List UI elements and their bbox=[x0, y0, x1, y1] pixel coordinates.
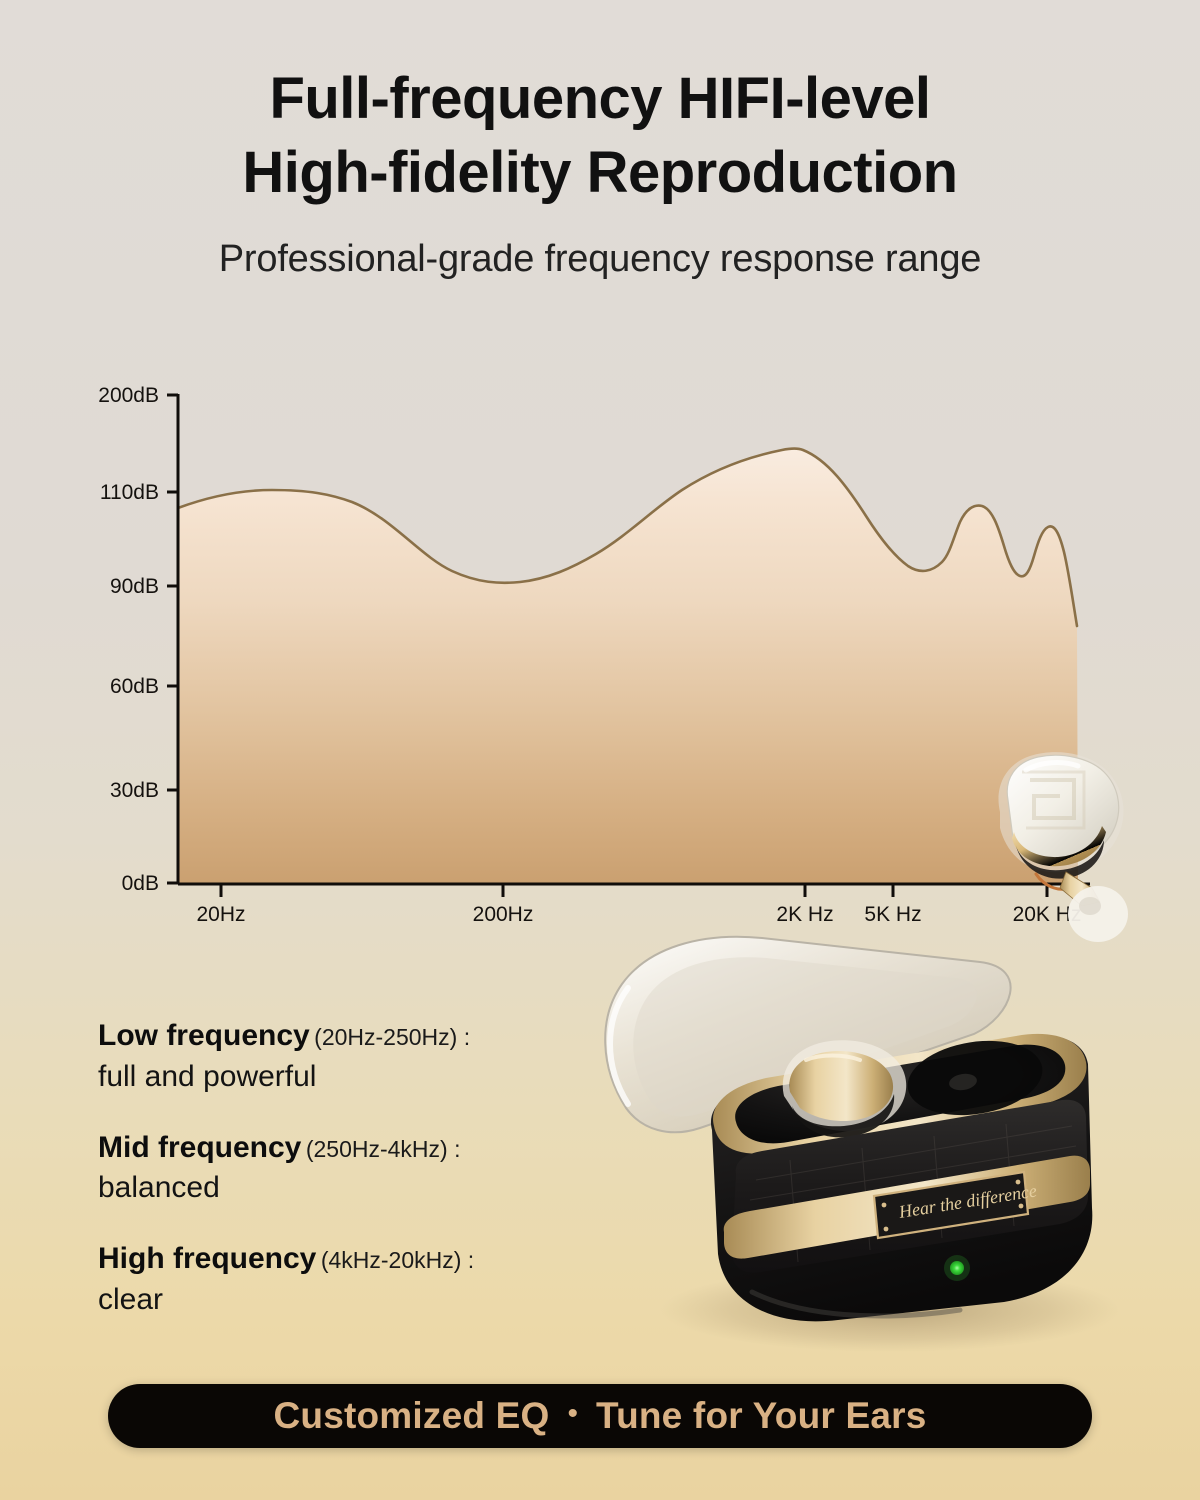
y-tick-label-90db: 90dB bbox=[110, 575, 159, 598]
frequency-breakdown-list: Low frequency (20Hz-250Hz) : full and po… bbox=[98, 1018, 598, 1319]
y-axis-labels: 200dB 110dB 90dB 60dB 30dB 0dB bbox=[98, 384, 159, 895]
frequency-response-chart: 200dB 110dB 90dB 60dB 30dB 0dB 20Hz 200H… bbox=[0, 370, 1200, 930]
frequency-item-mid-name: Mid frequency bbox=[98, 1131, 301, 1164]
case-nameplate: Hear the difference bbox=[874, 1172, 1038, 1238]
case-leather-band bbox=[732, 1100, 1088, 1273]
case-lid-hinge-highlight bbox=[610, 988, 628, 1104]
seated-earbud-highlight bbox=[806, 1056, 860, 1061]
case-lid-panel bbox=[605, 937, 1010, 1132]
nameplate-text: Hear the difference bbox=[897, 1180, 1039, 1222]
y-tick-label-0db: 0dB bbox=[122, 872, 159, 895]
y-tick-label-110db: 110dB bbox=[100, 481, 159, 504]
x-tick-label-2khz: 2K Hz bbox=[776, 903, 833, 926]
x-axis-labels: 20Hz 200Hz 2K Hz 5K Hz 20K Hz bbox=[196, 903, 1081, 926]
led-indicator-glow bbox=[944, 1255, 970, 1281]
chart-area-fill bbox=[178, 449, 1078, 885]
y-tick-label-60db: 60dB bbox=[110, 675, 159, 698]
x-tick-label-20hz: 20Hz bbox=[196, 903, 245, 926]
case-bottom-highlight bbox=[752, 1292, 960, 1316]
seated-earbud-shell bbox=[783, 1040, 906, 1131]
banner-separator-dot: • bbox=[568, 1399, 579, 1429]
seated-earbud-gold-cap bbox=[789, 1051, 893, 1121]
case-gold-stripe bbox=[724, 1156, 1090, 1259]
frequency-item-high-range: (4kHz-20kHz) : bbox=[321, 1247, 474, 1273]
header: Full-frequency HIFI-level High-fidelity … bbox=[0, 0, 1200, 281]
banner-right-text: Tune for Your Ears bbox=[596, 1395, 927, 1437]
case-lid-inner bbox=[633, 957, 976, 1116]
page-subtitle: Professional-grade frequency response ra… bbox=[0, 238, 1200, 281]
charging-case-product-image: Hear the difference bbox=[605, 937, 1092, 1322]
frequency-item-high: High frequency (4kHz-20kHz) : clear bbox=[98, 1241, 598, 1319]
frequency-item-low-head: Low frequency (20Hz-250Hz) : bbox=[98, 1018, 598, 1055]
nameplate-screw-tl bbox=[882, 1203, 887, 1208]
frequency-item-mid-range: (250Hz-4kHz) : bbox=[306, 1136, 461, 1162]
case-seated-earbud bbox=[783, 1040, 906, 1137]
frequency-item-high-head: High frequency (4kHz-20kHz) : bbox=[98, 1241, 598, 1278]
x-tick-label-20khz: 20K Hz bbox=[1013, 903, 1082, 926]
case-right-slot-contacts bbox=[948, 1072, 978, 1092]
nameplate-plate bbox=[874, 1172, 1028, 1238]
page-title: Full-frequency HIFI-level High-fidelity … bbox=[0, 62, 1200, 210]
title-line-2: High-fidelity Reproduction bbox=[0, 136, 1200, 210]
frequency-item-low: Low frequency (20Hz-250Hz) : full and po… bbox=[98, 1018, 598, 1096]
frequency-item-low-description: full and powerful bbox=[98, 1057, 598, 1096]
y-tick-label-30db: 30dB bbox=[110, 779, 159, 802]
frequency-item-mid-description: balanced bbox=[98, 1168, 598, 1207]
case-inner-cavity bbox=[735, 1045, 1065, 1144]
frequency-item-mid: Mid frequency (250Hz-4kHz) : balanced bbox=[98, 1130, 598, 1208]
frequency-item-mid-head: Mid frequency (250Hz-4kHz) : bbox=[98, 1130, 598, 1167]
response-curve-fill bbox=[178, 449, 1078, 885]
case-lid bbox=[605, 937, 1010, 1132]
frequency-item-high-description: clear bbox=[98, 1280, 598, 1319]
nameplate-screw-tr bbox=[1016, 1180, 1021, 1185]
frequency-item-high-name: High frequency bbox=[98, 1242, 316, 1275]
case-right-slot bbox=[902, 1032, 1048, 1124]
case-leather-texture bbox=[750, 1124, 1080, 1262]
chart-svg: 200dB 110dB 90dB 60dB 30dB 0dB 20Hz 200H… bbox=[0, 370, 1200, 930]
case-top-rim bbox=[713, 1034, 1086, 1154]
case-shadow bbox=[660, 1268, 1120, 1352]
frequency-item-low-name: Low frequency bbox=[98, 1019, 310, 1052]
nameplate-screw-br bbox=[1019, 1204, 1024, 1209]
y-axis-ticks bbox=[167, 395, 178, 883]
bottom-banner: Customized EQ • Tune for Your Ears bbox=[108, 1384, 1092, 1448]
banner-left-text: Customized EQ bbox=[273, 1395, 549, 1437]
title-line-1: Full-frequency HIFI-level bbox=[0, 62, 1200, 136]
led-indicator bbox=[950, 1261, 964, 1275]
seated-earbud-body bbox=[792, 1094, 894, 1137]
x-tick-label-5khz: 5K Hz bbox=[864, 903, 921, 926]
x-axis-ticks bbox=[221, 884, 1047, 897]
x-tick-label-200hz: 200Hz bbox=[473, 903, 534, 926]
y-tick-label-200db: 200dB bbox=[98, 384, 159, 407]
frequency-item-low-range: (20Hz-250Hz) : bbox=[314, 1024, 470, 1050]
nameplate-screw-bl bbox=[884, 1227, 889, 1232]
case-body bbox=[711, 1035, 1092, 1321]
